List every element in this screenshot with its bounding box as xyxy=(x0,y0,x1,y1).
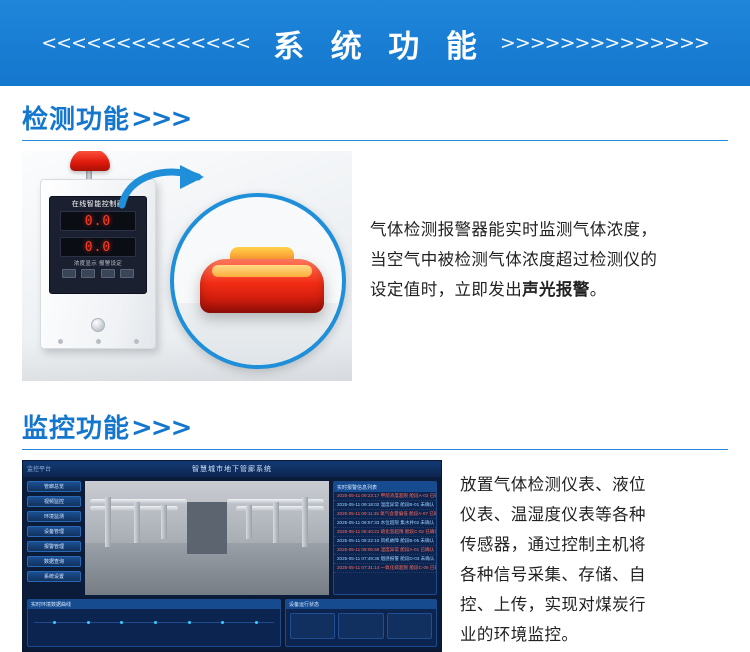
banner-right-chevrons: >>>>>>>>>>>>>> xyxy=(500,32,709,54)
lcd-caption: 浓度显示 报警设定 xyxy=(60,259,136,267)
scada-logo: 监控平台 xyxy=(27,464,51,473)
controller-button xyxy=(120,269,134,278)
tunnel-rib xyxy=(273,502,279,543)
scada-alarm-list-title: 实时报警信息列表 xyxy=(334,482,436,492)
tunnel-rib xyxy=(105,497,111,547)
tunnel-vanishing-point xyxy=(187,502,226,554)
scada-title-bar: 智慧城市地下管廊系统 xyxy=(23,461,441,477)
trend-point xyxy=(87,621,90,624)
trend-point xyxy=(154,621,157,624)
section-detection-title: 检测功能 xyxy=(22,106,130,132)
section-monitoring: 监控功能 >>> 智慧城市地下管廊系统 监控平台 管廊总览 视频监控 环境监测 … xyxy=(0,395,750,652)
paragraph-line: 控、上传，实现对煤炭行 xyxy=(460,596,646,614)
trend-point xyxy=(188,621,191,624)
trend-baseline xyxy=(34,622,274,623)
scada-bottom-panels: 实时环境数据曲线 设备运行状态 xyxy=(27,599,437,647)
alarm-row: 2025-05-11 08:40:21 硫化氢超限 舱段C-02 已确认 xyxy=(334,528,436,537)
page-banner: <<<<<<<<<<<<<< 系 统 功 能 >>>>>>>>>>>>>> xyxy=(0,0,750,86)
scada-menu-item[interactable]: 视频监控 xyxy=(27,496,81,507)
alarm-row: 2025-05-11 09:23:17 甲烷浓度超限 舱段A-03 已确认 xyxy=(334,492,436,501)
paragraph-line: 仪表、温湿度仪表等各种 xyxy=(460,506,646,524)
tunnel-rib xyxy=(161,505,167,539)
scada-trend-panel[interactable]: 实时环境数据曲线 xyxy=(27,599,281,647)
scada-device-status-title: 设备运行状态 xyxy=(286,600,436,609)
banner-left-chevrons: <<<<<<<<<<<<<< xyxy=(41,32,250,54)
scada-menu-item[interactable]: 环境监测 xyxy=(27,511,81,522)
section-monitoring-title: 监控功能 xyxy=(22,415,130,441)
controller-button xyxy=(62,269,76,278)
gas-alarm-controller-photo: 在线智能控制器 0.0 0.0 浓度显示 报警设定 xyxy=(22,151,352,381)
screw-icon xyxy=(96,339,101,344)
scada-device-status-panel[interactable]: 设备运行状态 xyxy=(285,599,437,647)
lcd-secondary-reading: 0.0 xyxy=(60,237,136,257)
tunnel-rib xyxy=(246,505,252,539)
section-monitoring-heading: 监控功能 >>> xyxy=(0,395,750,441)
paragraph-line-tail: 设定值时，立即发出声光报警。 xyxy=(370,281,607,299)
tunnel-rib xyxy=(134,502,140,543)
section-detection-arrows: >>> xyxy=(131,106,190,132)
mounting-screws xyxy=(41,339,155,344)
controller-button-row xyxy=(62,269,134,278)
alarm-row: 2025-05-11 09:18:02 温度异常 舱段B-01 未确认 xyxy=(334,501,436,510)
section-detection: 检测功能 >>> 在线智能控制器 0.0 0.0 浓度显示 报警设定 xyxy=(0,86,750,381)
alarm-row: 2025-05-11 07:31:14 一氧化碳超限 舱段C-06 已确认 xyxy=(334,564,436,573)
alarm-row: 2025-05-11 09:11:45 氧气含量偏低 舱段A-07 已确认 xyxy=(334,510,436,519)
section-detection-paragraph: 气体检测报警器能实时监测气体浓度， 当空气中被检测气体浓度超过检测仪的 设定值时… xyxy=(370,151,728,305)
screw-icon xyxy=(134,339,139,344)
section-detection-heading: 检测功能 >>> xyxy=(0,86,750,132)
alarm-row: 2025-05-11 08:22:10 风机故障 舱段B-05 未确认 xyxy=(334,537,436,546)
paragraph-line: 气体检测报警器能实时监测气体浓度， xyxy=(370,221,657,239)
paragraph-line: 各种信号采集、存储、自 xyxy=(460,566,646,584)
paragraph-line: 放置气体检测仪表、液位 xyxy=(460,476,646,494)
section-monitoring-arrows: >>> xyxy=(131,415,190,441)
paragraph-line: 传感器，通过控制主机将 xyxy=(460,536,646,554)
controller-knob xyxy=(91,318,105,332)
magnifier-circle xyxy=(170,193,346,369)
scada-monitoring-screenshot: 智慧城市地下管廊系统 监控平台 管廊总览 视频监控 环境监测 设备管理 报警管理… xyxy=(22,460,442,652)
scada-menu-item[interactable]: 数据查询 xyxy=(27,556,81,567)
scada-menu-item[interactable]: 管廊总览 xyxy=(27,481,81,492)
zoom-arrow-icon xyxy=(118,161,208,219)
section-monitoring-paragraph: 放置气体检测仪表、液位 仪表、温湿度仪表等各种 传感器，通过控制主机将 各种信号… xyxy=(460,460,732,650)
page-title: 系 统 功 能 xyxy=(264,21,486,66)
alarm-row: 2025-05-11 08:05:58 湿度异常 舱段A-01 已确认 xyxy=(334,546,436,555)
scada-menu-item[interactable]: 报警管理 xyxy=(27,541,81,552)
device-status-tile[interactable] xyxy=(338,613,383,639)
device-status-tile[interactable] xyxy=(290,613,335,639)
alarm-row: 2025-05-11 07:49:36 烟感报警 舱段D-03 未确认 xyxy=(334,555,436,564)
scada-3d-tunnel-view xyxy=(85,481,329,595)
controller-button xyxy=(101,269,115,278)
beacon-lens-zoomed xyxy=(200,259,324,313)
screw-icon xyxy=(58,339,63,344)
tunnel-rib xyxy=(302,497,308,547)
scada-menu-item[interactable]: 系统设置 xyxy=(27,571,81,582)
alarm-beacon xyxy=(70,151,110,171)
scada-menu-item[interactable]: 设备管理 xyxy=(27,526,81,537)
controller-button xyxy=(81,269,95,278)
device-status-tile[interactable] xyxy=(387,613,432,639)
paragraph-line: 当空气中被检测气体浓度超过检测仪的 xyxy=(370,251,657,269)
trend-point xyxy=(221,621,224,624)
trend-point xyxy=(120,621,123,624)
scada-trend-title: 实时环境数据曲线 xyxy=(28,600,280,609)
scada-left-menu[interactable]: 管廊总览 视频监控 环境监测 设备管理 报警管理 数据查询 系统设置 xyxy=(27,481,81,595)
scada-alarm-list[interactable]: 实时报警信息列表 2025-05-11 09:23:17 甲烷浓度超限 舱段A-… xyxy=(333,481,437,595)
trend-point xyxy=(255,621,258,624)
trend-point xyxy=(53,621,56,624)
paragraph-line: 业的环境监控。 xyxy=(460,626,578,644)
alarm-row: 2025-05-11 08:57:33 水位超限 集水井02 未确认 xyxy=(334,519,436,528)
paragraph-bold-phrase: 声光报警 xyxy=(522,281,590,299)
